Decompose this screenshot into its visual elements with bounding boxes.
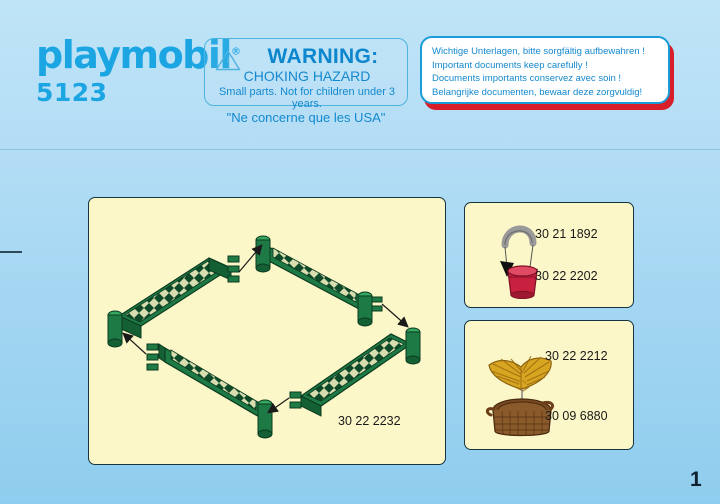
fence-panel-upper-left [108, 256, 239, 347]
part-number-bucket-handle: 30 21 1892 [535, 227, 598, 241]
part-number-straw: 30 22 2212 [545, 349, 608, 363]
main-panel-part-number: 30 22 2232 [338, 414, 401, 428]
basket-assembly-diagram [479, 331, 565, 443]
fence-connector-clips [147, 344, 158, 370]
documents-line-en: Important documents keep carefully ! [432, 59, 658, 73]
wicker-basket-icon [487, 399, 552, 436]
bucket-icon [508, 266, 537, 299]
parts-panel-basket: 30 22 2212 30 09 6880 [464, 320, 634, 450]
header-divider [0, 149, 720, 150]
page-number: 1 [690, 468, 702, 492]
assembly-arrow [382, 304, 407, 326]
part-number-bucket: 30 22 2202 [535, 269, 598, 283]
fence-connector-clips [290, 392, 301, 408]
documents-line-fr: Documents importants conservez avec soin… [432, 72, 658, 86]
fence-connector-clips [228, 256, 239, 282]
set-code: 5123 [36, 80, 211, 105]
fence-panel-lower-right [290, 328, 420, 416]
documents-line-nl: Belangrijke documenten, bewaar deze zorg… [432, 86, 658, 100]
warning-subtitle: CHOKING HAZARD [209, 69, 405, 83]
warning-usa-note: "Ne concerne que les USA" [198, 110, 414, 125]
fence-panel-upper-right [256, 236, 382, 326]
documents-box: Wichtige Unterlagen, bitte sorgfältig au… [420, 36, 670, 104]
documents-line-de: Wichtige Unterlagen, bitte sorgfältig au… [432, 45, 658, 59]
part-number-basket: 30 09 6880 [545, 409, 608, 423]
fence-post [406, 328, 420, 364]
fence-post [358, 292, 372, 326]
fence-post [256, 236, 270, 272]
fence-panel-lower-left [147, 344, 272, 438]
bucket-handle-icon [505, 229, 533, 245]
warning-title: WARNING: [243, 46, 403, 67]
fence-post [108, 311, 122, 347]
straw-bundle-icon [489, 356, 551, 391]
fence-post [258, 400, 272, 438]
warning-box: WARNING: CHOKING HAZARD Small parts. Not… [204, 38, 408, 106]
warning-triangle-icon [215, 49, 241, 71]
left-edge-tick [0, 251, 22, 253]
fence-connector-clips [372, 297, 382, 311]
warning-detail: Small parts. Not for children under 3 ye… [208, 86, 406, 110]
brand-block: playmobil® 5123 [36, 36, 211, 105]
brand-wordmark: playmobil [36, 33, 231, 77]
playmobil-logo: playmobil® [36, 36, 211, 74]
assembly-arrow [124, 334, 146, 354]
parts-panel-bucket: 30 21 1892 30 22 2202 [464, 202, 634, 308]
